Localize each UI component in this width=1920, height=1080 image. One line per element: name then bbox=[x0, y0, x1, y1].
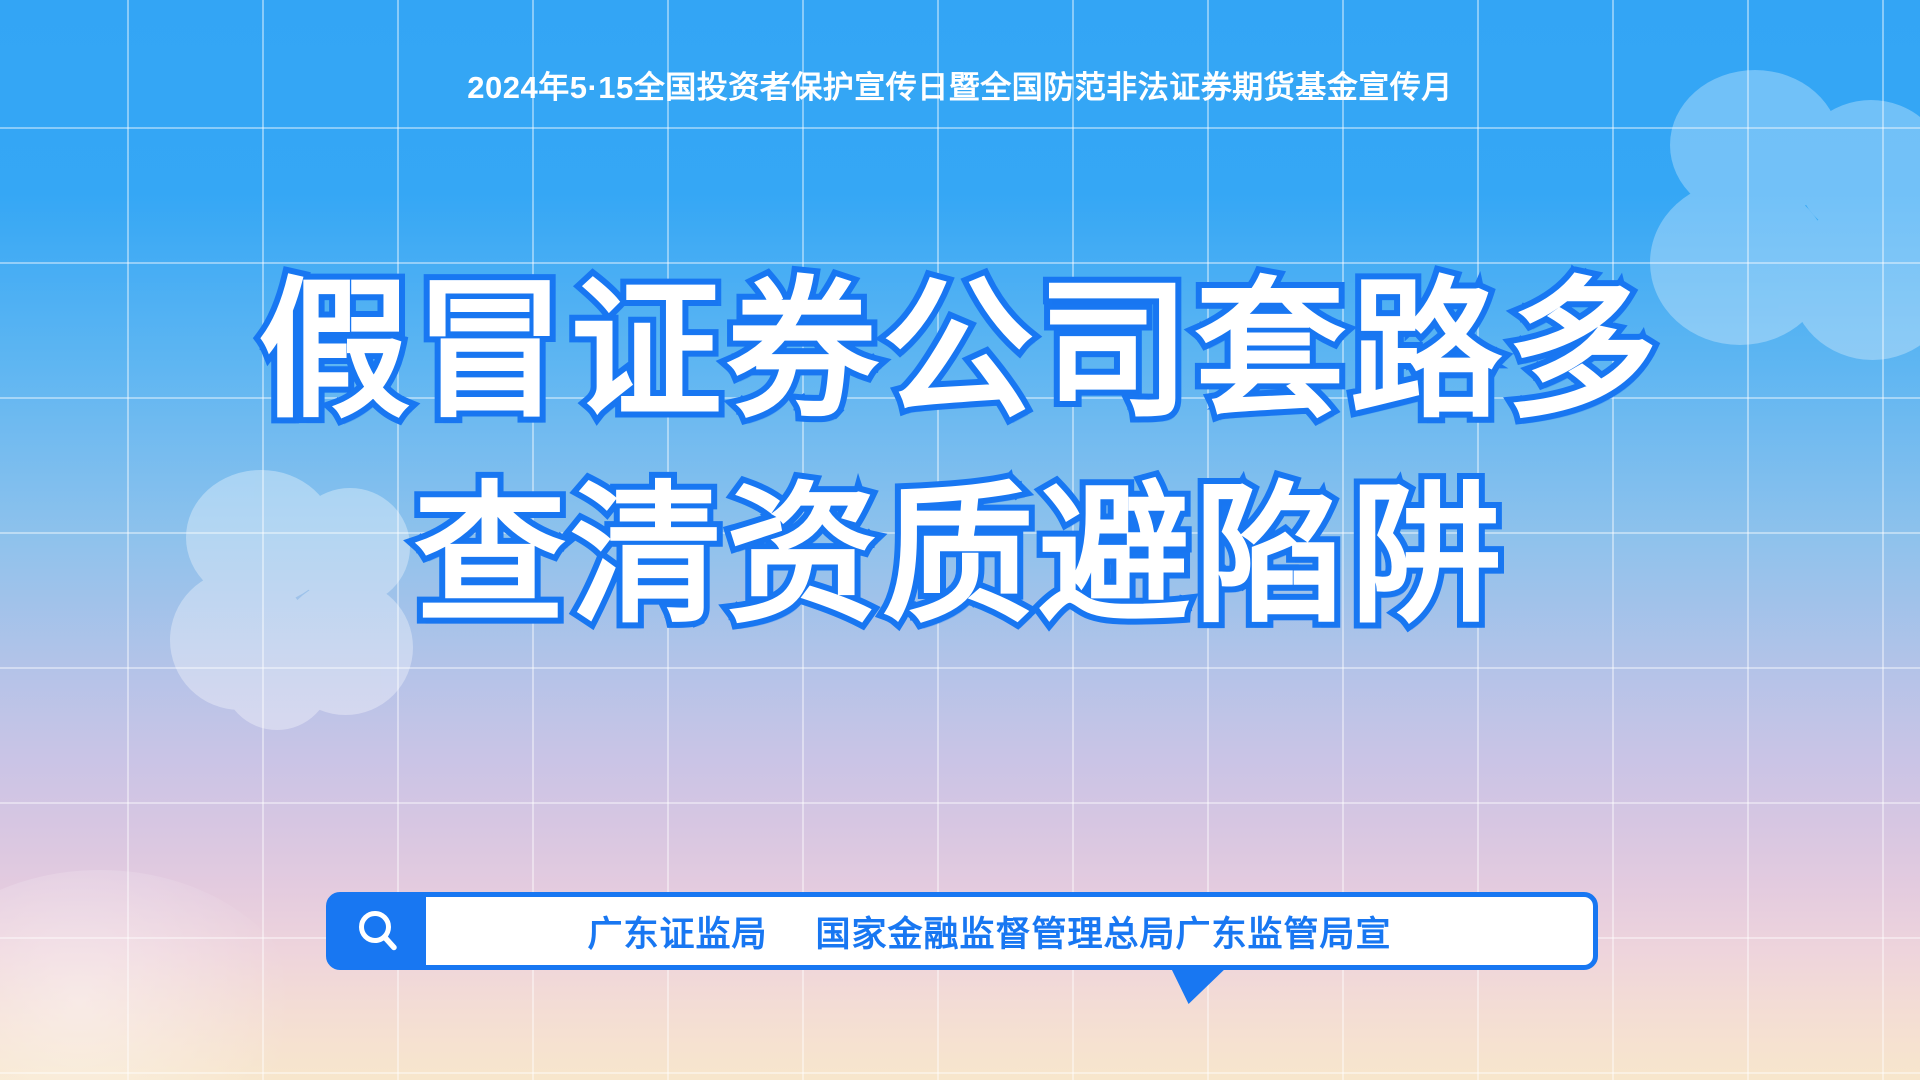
poster-canvas: 2024年5·15全国投资者保护宣传日暨全国防范非法证券期货基金宣传月 假冒证券… bbox=[0, 0, 1920, 1080]
campaign-kicker-text: 2024年5·15全国投资者保护宣传日暨全国防范非法证券期货基金宣传月 bbox=[0, 62, 1920, 107]
headline-line-2: 查清资质避陷阱 bbox=[0, 467, 1920, 646]
flower-petal bbox=[1796, 100, 1920, 240]
glow-decoration-bottom-left bbox=[0, 870, 310, 1080]
headline-line-1: 假冒证券公司套路多 bbox=[0, 262, 1920, 441]
banner-tail bbox=[1170, 966, 1228, 1004]
search-icon bbox=[330, 897, 426, 965]
headline-block: 假冒证券公司套路多 查清资质避陷阱 bbox=[0, 262, 1920, 647]
issuer-secondary: 国家金融监督管理总局广东监管局宣 bbox=[816, 915, 1392, 954]
flower-petal bbox=[1880, 130, 1920, 255]
issuer-primary: 广东证监局 bbox=[587, 915, 767, 954]
issuer-banner: 广东证监局国家金融监督管理总局广东监管局宣 bbox=[326, 892, 1598, 970]
issuer-text: 广东证监局国家金融监督管理总局广东监管局宣 bbox=[426, 906, 1593, 957]
